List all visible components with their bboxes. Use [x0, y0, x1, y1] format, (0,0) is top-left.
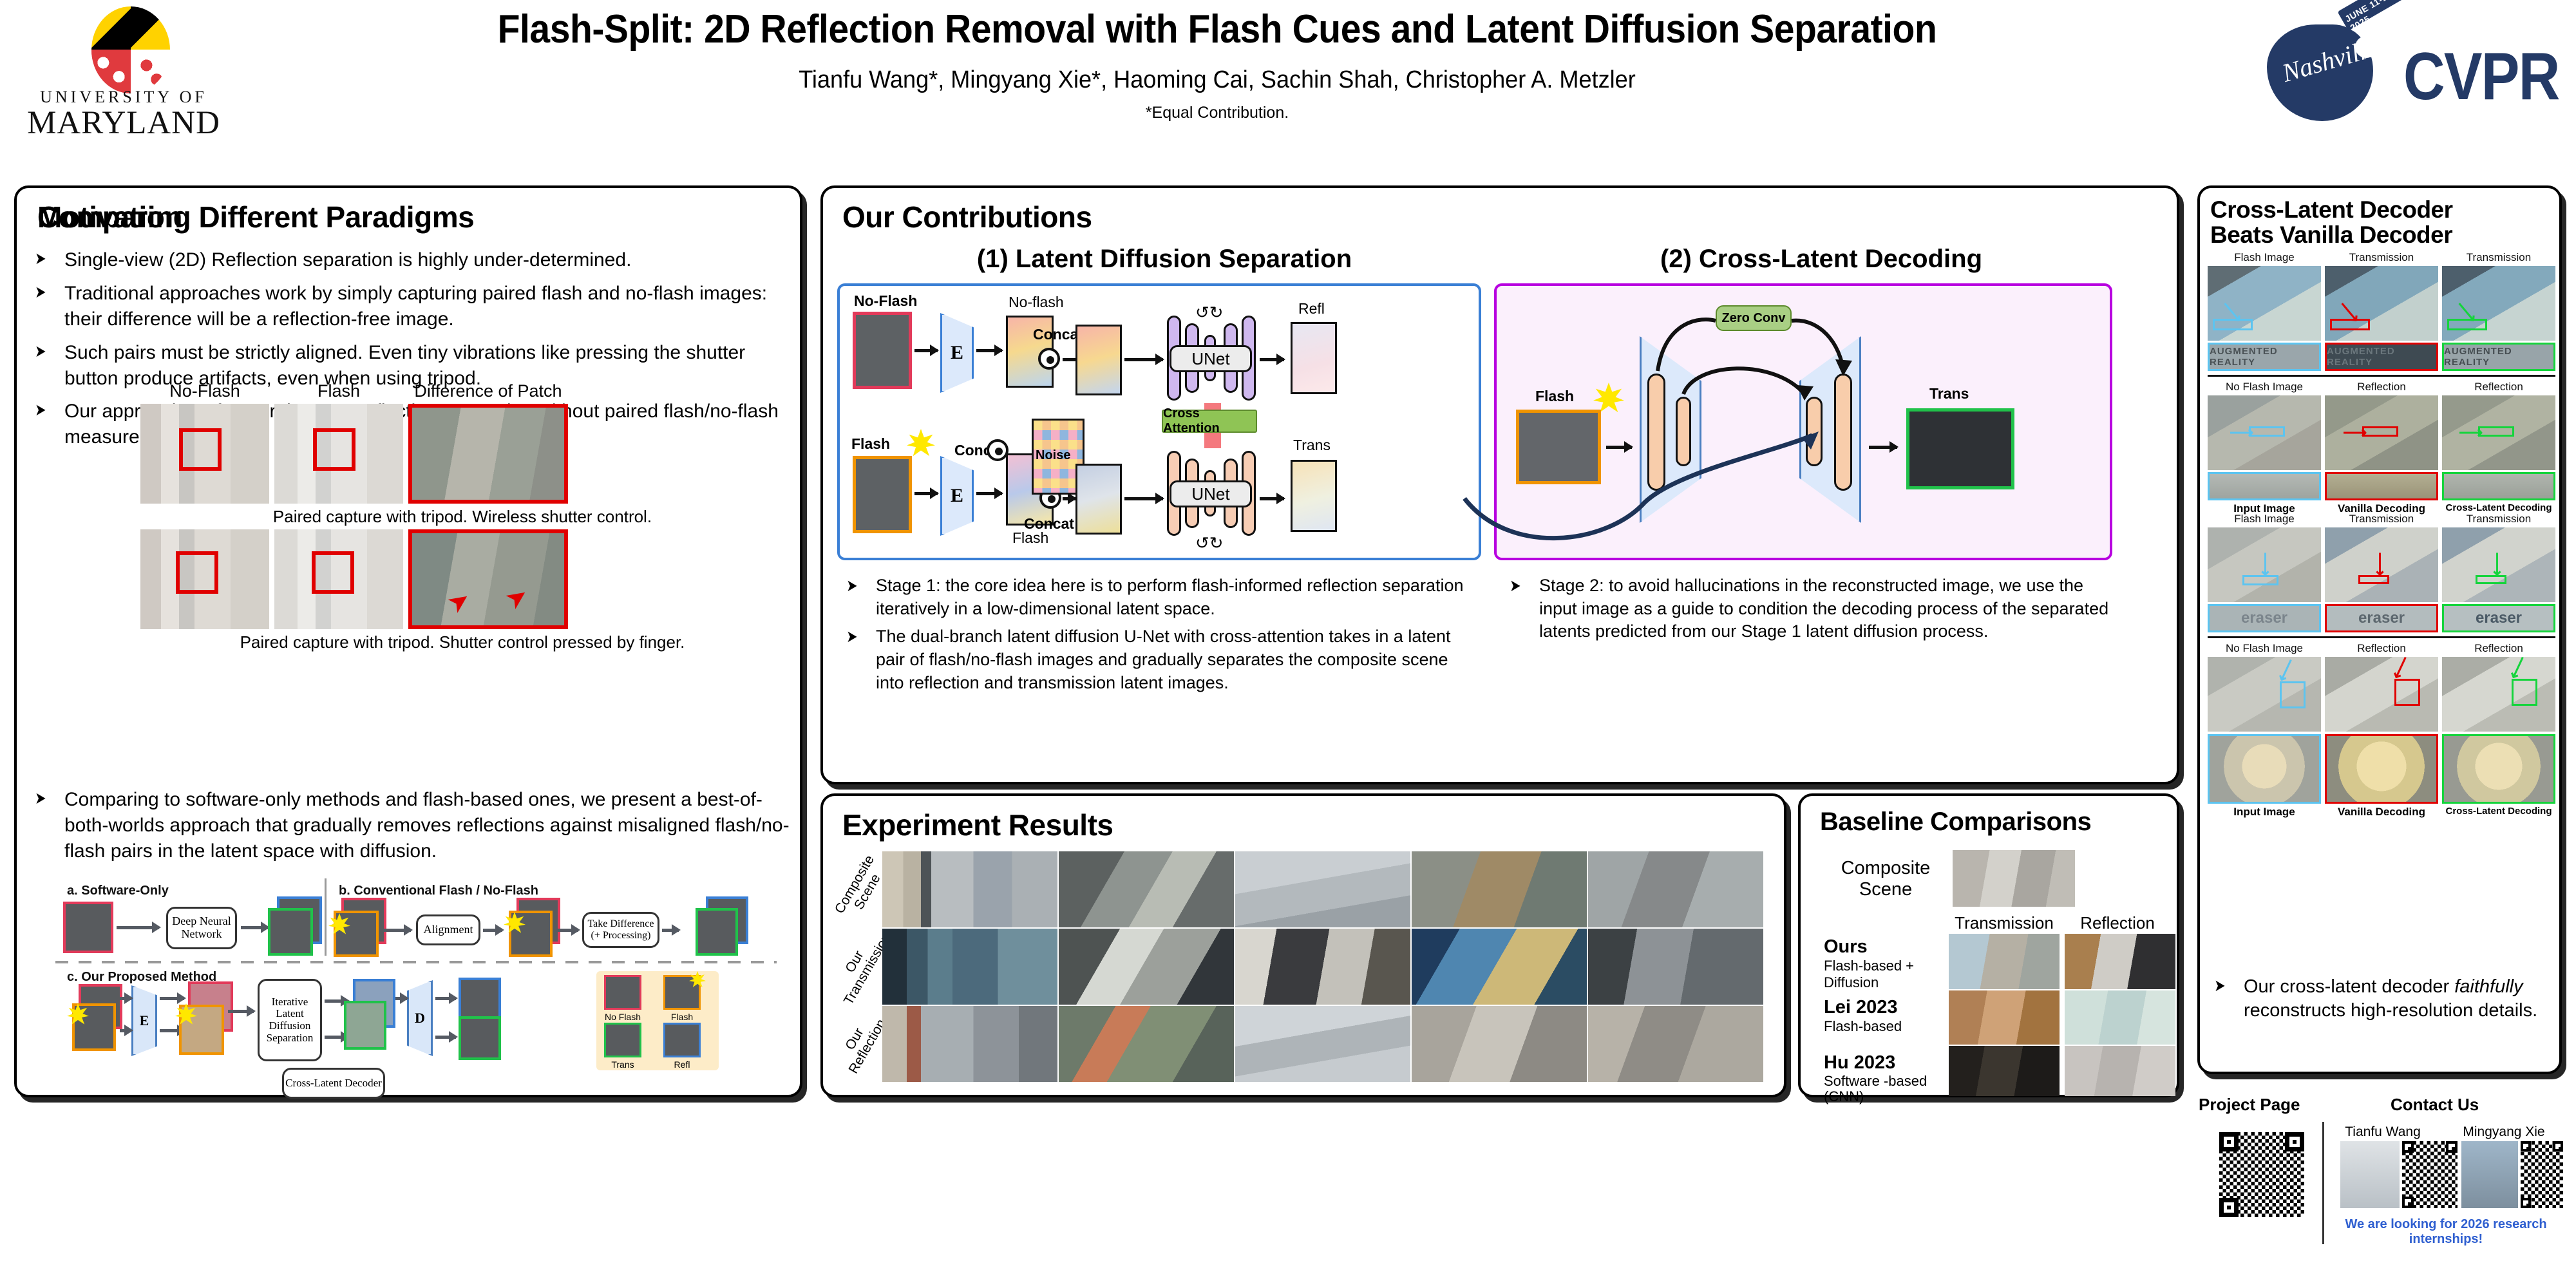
xdec-footers: Input Image Vanilla Decoding Cross-Laten…: [2208, 806, 2555, 819]
photo-output-trans: [1906, 408, 2014, 489]
row-name: Hu 2023: [1824, 1052, 1950, 1074]
motivation-row-2: ➤ ➤: [140, 529, 784, 629]
paradigms-figure: a. Software-Only b. Conventional Flash /…: [55, 884, 777, 1077]
thumb-input-a: [63, 902, 113, 953]
page-title: Flash-Split: 2D Reflection Removal with …: [310, 6, 2123, 52]
paradigms-title: Comparing Different Paradigms: [37, 200, 474, 234]
unet-top: UNet: [1170, 345, 1252, 372]
footer-cell: Vanilla Decoding: [2325, 806, 2438, 819]
cross-latent-decoding-diagram: Zero Conv Flash Trans: [1494, 283, 2112, 560]
roi-box: [2280, 681, 2306, 708]
output-cube-trans: [1291, 460, 1337, 532]
encoder-icon: E: [940, 456, 974, 536]
zoom-crop: [2208, 472, 2321, 500]
xdec-headers: Flash Image Transmission Transmission: [2208, 251, 2555, 264]
row-sub: Flash-based: [1824, 1018, 1946, 1035]
roi-box: [2476, 575, 2506, 584]
contributions-bullets-right: Stage 2: to avoid hallucinations in the …: [1506, 574, 2124, 649]
image-cell: ⟶: [2325, 395, 2438, 470]
roi-box: [408, 404, 568, 504]
baseline-cell: [2065, 1046, 2175, 1096]
result-cell: [1059, 1006, 1234, 1082]
xdec-block-4: No Flash Image Reflection Reflection ⟶ ⟶…: [2208, 631, 2555, 819]
figure-header-flash: Flash: [274, 381, 403, 401]
photo-noflash-tripod: [140, 404, 269, 504]
flow-arrow: [383, 929, 411, 932]
results-grid: [882, 851, 1763, 1082]
header-cell: Transmission: [2325, 513, 2438, 526]
result-cell: [882, 929, 1057, 1005]
baseline-cell: [1949, 990, 2060, 1045]
conference-dates: JUNE 11-15, 2025: [2338, 0, 2421, 40]
list-item: Stage 2: to avoid hallucinations in the …: [1506, 574, 2124, 643]
baseline-cell: [1949, 934, 2060, 989]
thumb-trans-b: [696, 908, 738, 956]
contact-us-label: Contact Us: [2391, 1095, 2479, 1115]
roi-box: [176, 551, 218, 594]
pointer-arrow-icon: ⟶: [2230, 424, 2253, 440]
legend-label-trans: Trans: [601, 1059, 644, 1070]
concat-node-top: [1038, 348, 1060, 370]
motivation-caption-1: Paired capture with tripod. Wireless shu…: [140, 507, 784, 527]
flow-arrow: [1124, 358, 1163, 361]
baseline-cell: [2065, 934, 2175, 989]
photo-flash-finger: [274, 529, 403, 629]
person-name-2: Mingyang Xie: [2459, 1124, 2549, 1140]
zoom-crop: eraser: [2208, 604, 2321, 632]
flow-arrow: [1869, 446, 1897, 449]
header-cell: No Flash Image: [2208, 642, 2321, 655]
image-cell: ⟶: [2208, 657, 2321, 732]
divider: [2322, 1122, 2324, 1244]
roi-box: [312, 551, 354, 594]
result-cell: [1588, 851, 1763, 927]
paradigms-bullets: Comparing to software-only methods and f…: [31, 787, 791, 872]
motivation-figure: No-Flash Flash Difference of Patch Paire…: [140, 381, 784, 652]
baseline-row-lei: Lei 2023 Flash-based: [1824, 997, 1946, 1035]
node-deep-neural-network: Deep Neural Network: [166, 907, 237, 949]
result-cell: [882, 1006, 1057, 1082]
zoom-crop: [2325, 472, 2438, 500]
concat-node-mid: [987, 439, 1009, 461]
legend-label-flash: Flash: [661, 1012, 703, 1022]
flow-arrow: [435, 1036, 456, 1039]
roi-box: [2512, 679, 2537, 706]
umd-maryland-line: MARYLAND: [17, 107, 230, 140]
flow-arrow: [1260, 497, 1284, 500]
row-sub: Flash-based + Diffusion: [1824, 958, 1946, 991]
pointer-arrow-icon: ⟶: [2258, 552, 2275, 576]
guitar-neck-icon: JUNE 11-15, 2025: [2338, 0, 2416, 31]
skip-connections: [1497, 286, 2115, 563]
roi-box: [313, 428, 355, 471]
person-name-1: Tianfu Wang: [2340, 1124, 2425, 1140]
recycle-icon: ↺↻: [1195, 533, 1224, 553]
image-cell: ⟶: [2208, 266, 2321, 341]
roi-box: [2249, 426, 2285, 437]
pointer-arrow-icon: ⟶: [2372, 552, 2389, 576]
poster-header: UNIVERSITY OF MARYLAND Flash-Split: 2D R…: [0, 0, 2576, 175]
xdec-block-1: Flash Image Transmission Transmission ⟶ …: [2208, 251, 2555, 371]
xdec-zooms: eraser eraser eraser: [2208, 604, 2555, 632]
zoom-crop: [2442, 734, 2555, 804]
label-output-trans: Trans: [1293, 437, 1331, 454]
xdec-headers: No Flash Image Reflection Reflection: [2208, 381, 2555, 393]
umd-university-line: UNIVERSITY OF: [17, 88, 230, 107]
motivation-row-1: [140, 404, 784, 504]
photo-flash-tripod: [274, 404, 403, 504]
thumb-trans-a: [268, 908, 313, 956]
roi-box: [2362, 426, 2398, 437]
motivation-caption-2: Paired capture with tripod. Shutter cont…: [140, 632, 784, 652]
list-item: Single-view (2D) Reflection separation i…: [31, 247, 788, 273]
subtitle-latent-diffusion: (1) Latent Diffusion Separation: [862, 245, 1467, 274]
legend-label-noflash: No Flash: [601, 1012, 644, 1022]
image-cell: ⟶: [2442, 527, 2555, 602]
author-list: Tianfu Wang*, Mingyang Xie*, Haoming Cai…: [281, 66, 2154, 94]
output-cube-refl: [1291, 322, 1337, 394]
flow-arrow: [120, 1029, 131, 1032]
photo-difference-tripod: [408, 404, 568, 504]
avatar: [2461, 1141, 2518, 1208]
roi-box: [179, 428, 222, 471]
label-output-trans-2: Trans: [1929, 385, 1969, 402]
flow-arrow: [914, 492, 938, 495]
baseline-comparisons-panel: Baseline Comparisons Composite Scene Tra…: [1798, 793, 2179, 1097]
zoom-crop: eraser: [2325, 604, 2438, 632]
image-cell: ⟶: [2325, 266, 2438, 341]
baseline-col-transmission: Transmission: [1950, 913, 2058, 933]
flow-arrow: [976, 349, 1002, 352]
list-item: Traditional approaches work by simply ca…: [31, 281, 788, 332]
zoom-crop: [2325, 734, 2438, 804]
footer-cell: Input Image: [2208, 806, 2321, 819]
label-concat-bottom: Concat: [1024, 515, 1074, 533]
pointer-arrow-icon: ⟶: [2490, 552, 2506, 576]
header-cell: Transmission: [2442, 513, 2555, 526]
xdec-headers: Flash Image Transmission Transmission: [2208, 513, 2555, 526]
maryland-flag-icon: [91, 6, 170, 93]
result-cell: [1412, 1006, 1587, 1082]
title-block: Flash-Split: 2D Reflection Removal with …: [232, 6, 2202, 122]
latent-cube-concat-bottom: [1075, 464, 1122, 535]
roi-box: [408, 529, 568, 629]
header-cell: Flash Image: [2208, 513, 2321, 526]
cvpr-logo: JUNE 11-15, 2025 Nashville CVPR: [2254, 5, 2557, 124]
zoom-crop: [2208, 734, 2321, 804]
header-cell: Reflection: [2325, 381, 2438, 393]
row-sub: Software -based (CNN): [1824, 1074, 1950, 1104]
thumb-refl-c: [459, 978, 501, 1021]
flow-arrow: [435, 997, 456, 1000]
baseline-col-reflection: Reflection: [2063, 913, 2172, 933]
latent-diffusion-diagram: No-Flash E No-flash Flash E Flash Concat…: [837, 283, 1481, 560]
image-cell: ⟶: [2442, 395, 2555, 470]
header-cell: No Flash Image: [2208, 381, 2321, 393]
flow-arrow: [1260, 358, 1284, 361]
list-item: Stage 1: the core idea here is to perfor…: [842, 574, 1467, 620]
contributions-title: Our Contributions: [842, 200, 1092, 234]
project-page-qr-code[interactable]: [2219, 1132, 2304, 1217]
row-name: Lei 2023: [1824, 997, 1946, 1018]
node-iterative-latent-diffusion: Iterative Latent Diffusion Separation: [258, 979, 322, 1061]
result-cell: [1412, 851, 1587, 927]
baseline-row-ours: Ours Flash-based + Diffusion: [1824, 936, 1946, 991]
thumb-trans-c: [459, 1016, 501, 1060]
xdec-images: ⟶ ⟶ ⟶: [2208, 266, 2555, 341]
contributions-panel: Our Contributions (1) Latent Diffusion S…: [820, 185, 2179, 784]
contact-section: Project Page Contact Us Tianfu Wang Ming…: [2197, 1095, 2562, 1282]
xdec-zooms: AUGMENTED REALITY AUGMENTED REALITY AUGM…: [2208, 343, 2555, 371]
photo-input-flash: [853, 456, 912, 533]
zoom-crop: [2442, 472, 2555, 500]
xdec-title-line1: Cross-Latent Decoder: [2210, 197, 2554, 222]
flash-star-icon: [907, 429, 935, 457]
recycle-icon: ↺↻: [1195, 303, 1224, 323]
result-cell: [1059, 851, 1234, 927]
xdec-headers: No Flash Image Reflection Reflection: [2208, 642, 2555, 655]
label-output-refl: Refl: [1298, 300, 1325, 317]
poster-root: UNIVERSITY OF MARYLAND Flash-Split: 2D R…: [0, 0, 2576, 1288]
flow-arrow: [483, 929, 502, 932]
flow-arrow: [120, 997, 131, 1000]
legend-thumb-trans: [604, 1023, 641, 1057]
result-cell: [1235, 851, 1410, 927]
emphasis: faithfully: [2454, 976, 2523, 997]
node-alignment: Alignment: [416, 914, 480, 945]
pointer-arrow-icon: ⟶: [2343, 424, 2367, 440]
project-page-label: Project Page: [2199, 1095, 2300, 1115]
unet-bottom: UNet: [1170, 480, 1252, 507]
list-item: Our cross-latent decoder faithfully reco…: [2210, 975, 2552, 1023]
zoom-crop: eraser: [2442, 604, 2555, 632]
contributions-bullets-left: Stage 1: the core idea here is to perfor…: [842, 574, 1467, 699]
header-cell: Reflection: [2442, 381, 2555, 393]
flow-arrow: [1063, 497, 1075, 500]
xdec-block-3: Flash Image Transmission Transmission ⟶ …: [2208, 513, 2555, 632]
divider: [2208, 636, 2555, 638]
flow-arrow: [241, 926, 268, 929]
legend-label-refl: Refl: [661, 1059, 703, 1070]
xdec-block-2: No Flash Image Reflection Reflection ⟶ ⟶…: [2208, 370, 2555, 515]
xdec-images: ⟶ ⟶ ⟶: [2208, 527, 2555, 602]
umd-wordmark: UNIVERSITY OF MARYLAND: [17, 88, 230, 140]
fig-label-b: b. Conventional Flash / No-Flash: [339, 884, 538, 898]
header-cell: Transmission: [2442, 251, 2555, 264]
xdec-bullets: Our cross-latent decoder faithfully reco…: [2210, 975, 2552, 1030]
image-cell: ⟶: [2442, 657, 2555, 732]
flow-arrow: [976, 492, 1002, 495]
node-cross-latent-decoder: Cross-Latent Decoder: [282, 1068, 385, 1099]
flow-arrow: [228, 1010, 254, 1013]
figure-header-difference: Difference of Patch: [408, 381, 568, 401]
zoom-crop: AUGMENTED REALITY: [2208, 343, 2321, 371]
photo-difference-finger: ➤ ➤: [408, 529, 568, 629]
result-cell: [1235, 1006, 1410, 1082]
xdec-images: ⟶ ⟶ ⟶: [2208, 395, 2555, 470]
result-cell: [1588, 1006, 1763, 1082]
baseline-composite-label: Composite Scene: [1826, 858, 1945, 901]
conference-name: CVPR: [2403, 39, 2559, 115]
latent-cube-concat-top: [1075, 325, 1122, 395]
roi-box: [2394, 679, 2420, 706]
flow-arrow: [1124, 497, 1163, 500]
xdec-zooms: [2208, 734, 2555, 804]
subtitle-cross-latent-decoding: (2) Cross-Latent Decoding: [1525, 245, 2117, 274]
header-cell: Transmission: [2325, 251, 2438, 264]
pointer-arrow-icon: ⟶: [2274, 657, 2299, 685]
divider: [55, 961, 777, 963]
xdec-title-line2: Beats Vanilla Decoder: [2210, 222, 2554, 247]
latent-cube-trans: [344, 1001, 386, 1050]
pointer-arrow-icon: ⟶: [2459, 424, 2483, 440]
label-input-noflash: No-Flash: [854, 292, 917, 310]
baseline-cell: [1949, 1046, 2060, 1096]
avatar: [2340, 1141, 2400, 1208]
baseline-composite-image: [1953, 850, 2075, 907]
node-take-difference: Take Difference (+ Processing): [582, 912, 659, 948]
xdec-title: Cross-Latent Decoder Beats Vanilla Decod…: [2210, 197, 2554, 247]
legend-thumb-refl: [663, 1023, 701, 1057]
motivation-figure-headers: No-Flash Flash Difference of Patch: [140, 381, 784, 401]
xdec-images: ⟶ ⟶ ⟶: [2208, 657, 2555, 732]
encoder-icon: E: [131, 985, 157, 1056]
flow-arrow: [160, 997, 184, 1000]
roi-box: [2478, 426, 2514, 437]
header-cell: Reflection: [2325, 642, 2438, 655]
divider: [2208, 375, 2555, 377]
legend-thumb-noflash: [604, 975, 641, 1010]
roi-box: [2358, 575, 2389, 584]
baseline-cell: [2065, 990, 2175, 1045]
fig-label-a: a. Software-Only: [67, 884, 169, 898]
baseline-title: Baseline Comparisons: [1820, 808, 2091, 837]
photo-noflash-finger: [140, 529, 269, 629]
result-cell: [882, 851, 1057, 927]
results-title: Experiment Results: [842, 808, 1113, 842]
label-noise: Noise: [1036, 448, 1070, 463]
result-cell: [1059, 929, 1234, 1005]
divider: [325, 878, 327, 956]
image-cell: ⟶: [2442, 266, 2555, 341]
flow-arrow: [117, 926, 159, 929]
zoom-crop: AUGMENTED REALITY: [2442, 343, 2555, 371]
person-qr-code-1[interactable]: [2402, 1141, 2458, 1208]
cross-attention-badge: Cross Attention: [1162, 410, 1257, 433]
image-cell: ⟶: [2325, 657, 2438, 732]
image-cell: ⟶: [2325, 527, 2438, 602]
flow-arrow: [395, 997, 407, 1000]
flow-arrow: [556, 929, 578, 932]
person-qr-code-2[interactable]: [2521, 1141, 2563, 1208]
roi-box: [2242, 575, 2278, 585]
baseline-row-hu: Hu 2023 Software -based (CNN): [1824, 1052, 1950, 1104]
umd-logo: UNIVERSITY OF MARYLAND: [14, 5, 227, 140]
cross-latent-decoder-panel: Cross-Latent Decoder Beats Vanilla Decod…: [2197, 185, 2562, 1074]
zoom-crop: AUGMENTED REALITY: [2325, 343, 2438, 371]
photo-input-noflash: [853, 312, 912, 389]
header-cell: Reflection: [2442, 642, 2555, 655]
image-cell: ⟶: [2208, 527, 2321, 602]
flow-arrow: [662, 929, 679, 932]
experiment-results-panel: Experiment Results Composite Scene Our T…: [820, 793, 1786, 1097]
image-cell: ⟶: [2208, 395, 2321, 470]
decoder-icon: D: [407, 980, 433, 1056]
list-item: Comparing to software-only methods and f…: [31, 787, 791, 864]
result-cell: [1412, 929, 1587, 1005]
list-item: The dual-branch latent diffusion U-Net w…: [842, 625, 1467, 694]
result-cell: [1235, 929, 1410, 1005]
footer-cell: Cross-Latent Decoding: [2442, 806, 2555, 819]
figure-header-noflash: No-Flash: [140, 381, 269, 401]
label-input-flash: Flash: [851, 435, 890, 453]
internship-note: We are looking for 2026 research interns…: [2325, 1217, 2567, 1247]
encoder-icon: E: [940, 313, 974, 393]
equal-contribution-note: *Equal Contribution.: [232, 104, 2202, 122]
label-latent-noflash: No-flash: [1009, 294, 1064, 311]
header-cell: Flash Image: [2208, 251, 2321, 264]
flow-arrow: [914, 349, 938, 352]
result-cell: [1588, 929, 1763, 1005]
row-name: Ours: [1824, 936, 1946, 958]
motivation-panel: Motivation Single-view (2D) Reflection s…: [14, 185, 802, 1097]
xdec-zooms: [2208, 472, 2555, 500]
